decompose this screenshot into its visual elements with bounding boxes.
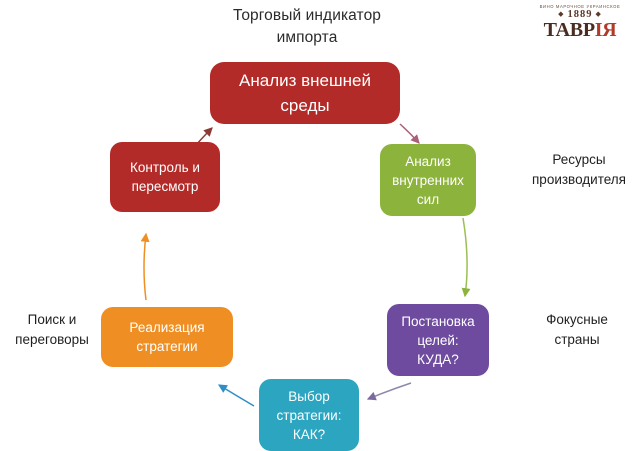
brand-logo: ВИНО МАРОЧНОЕ УКРАИНСКОЕ ◆1889◆ ТАВРІЯ bbox=[528, 2, 632, 42]
node-strategy-implementation[interactable]: Реализация стратегии bbox=[101, 307, 233, 367]
logo-wordmark-main: ТАВР bbox=[544, 19, 595, 41]
label-focus-countries: Фокусные страны bbox=[516, 310, 638, 350]
logo-wordmark-accent: ІЯ bbox=[595, 19, 617, 41]
node-goal-setting[interactable]: Постановка целей: КУДА? bbox=[387, 304, 489, 376]
node-internal-analysis[interactable]: Анализ внутренних сил bbox=[380, 144, 476, 216]
page-title: Торговый индикатор импорта bbox=[182, 5, 432, 49]
arrow-strategy-to-implementation bbox=[219, 385, 254, 406]
node-external-analysis[interactable]: Анализ внешней среды bbox=[210, 62, 400, 124]
diagram-canvas: Торговый индикатор импорта ВИНО МАРОЧНОЕ… bbox=[0, 0, 640, 451]
node-control-review[interactable]: Контроль и пересмотр bbox=[110, 142, 220, 212]
logo-dot-left: ◆ bbox=[555, 10, 567, 18]
arrow-internal-to-goals bbox=[463, 218, 467, 296]
logo-wordmark: ТАВРІЯ bbox=[528, 19, 632, 41]
arrow-external-to-internal bbox=[400, 124, 419, 143]
arrow-goals-to-strategy bbox=[368, 383, 411, 399]
arrow-implementation-to-control bbox=[144, 234, 146, 300]
node-strategy-choice[interactable]: Выбор стратегии: КАК? bbox=[259, 379, 359, 451]
label-search-negotiations: Поиск и переговоры bbox=[0, 310, 104, 350]
logo-dot-right: ◆ bbox=[593, 10, 605, 18]
label-resources: Ресурсы производителя bbox=[518, 150, 640, 190]
